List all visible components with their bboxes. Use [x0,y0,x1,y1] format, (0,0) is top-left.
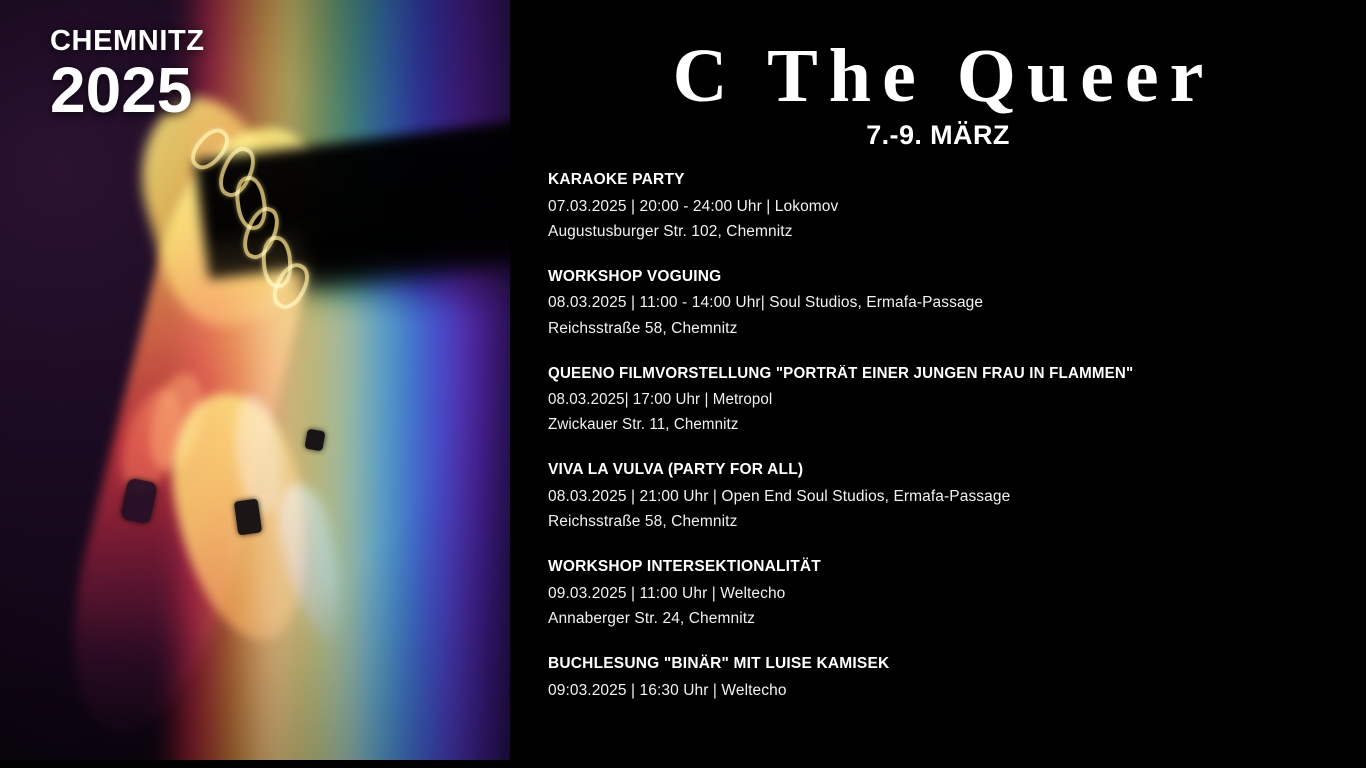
event-address: Augustusburger Str. 102, Chemnitz [548,219,1366,244]
brand-dates: 7.-9. MÄRZ [510,120,1366,151]
event-address: Zwickauer Str. 11, Chemnitz [548,412,1346,437]
event-list: KARAOKE PARTY 07.03.2025 | 20:00 - 24:00… [510,171,1366,703]
event-item: VIVA LA VULVA (PARTY FOR ALL) 08.03.2025… [548,461,1366,534]
photo-headline: CHEMNITZ 2025 [50,26,205,121]
event-datetime-venue: 08.03.2025 | 11:00 - 14:00 Uhr| Soul Stu… [548,290,1366,315]
event-title: QUEENO FILMVORSTELLUNG "PORTRÄT EINER JU… [548,365,1346,384]
event-address: Reichsstraße 58, Chemnitz [548,316,1366,341]
event-address: Reichsstraße 58, Chemnitz [548,509,1366,534]
brand-title: C The Queer [510,0,1366,114]
event-datetime-venue: 09:03.2025 | 16:30 Uhr | Weltecho [548,678,1366,703]
event-title: VIVA LA VULVA (PARTY FOR ALL) [548,461,1366,480]
event-address: Annaberger Str. 24, Chemnitz [548,606,1366,631]
event-datetime-venue: 08.03.2025| 17:00 Uhr | Metropol [548,387,1346,412]
headline-year: 2025 [50,60,205,121]
event-title: BUCHLESUNG "BINÄR" MIT LUISE KAMISEK [548,655,1366,674]
content-panel: C The Queer 7.-9. MÄRZ KARAOKE PARTY 07.… [510,0,1366,768]
ring-accessory [234,498,262,535]
photo-bottom-edge [0,760,510,768]
event-datetime-venue: 07.03.2025 | 20:00 - 24:00 Uhr | Lokomov [548,194,1366,219]
event-title: WORKSHOP INTERSEKTIONALITÄT [548,558,1366,577]
event-item: WORKSHOP VOGUING 08.03.2025 | 11:00 - 14… [548,268,1366,341]
photo-panel: CHEMNITZ 2025 [0,0,510,768]
event-title: WORKSHOP VOGUING [548,268,1366,287]
event-item: WORKSHOP INTERSEKTIONALITÄT 09.03.2025 |… [548,558,1366,631]
event-item: QUEENO FILMVORSTELLUNG "PORTRÄT EINER JU… [548,365,1366,438]
ring-accessory-small [304,429,325,452]
poster-root: CHEMNITZ 2025 C The Queer 7.-9. MÄRZ KAR… [0,0,1366,768]
event-title: KARAOKE PARTY [548,171,1366,190]
event-item: KARAOKE PARTY 07.03.2025 | 20:00 - 24:00… [548,171,1366,244]
headline-city: CHEMNITZ [50,26,205,56]
event-datetime-venue: 09.03.2025 | 11:00 Uhr | Weltecho [548,581,1366,606]
event-item: BUCHLESUNG "BINÄR" MIT LUISE KAMISEK 09:… [548,655,1366,703]
event-datetime-venue: 08.03.2025 | 21:00 Uhr | Open End Soul S… [548,484,1366,509]
